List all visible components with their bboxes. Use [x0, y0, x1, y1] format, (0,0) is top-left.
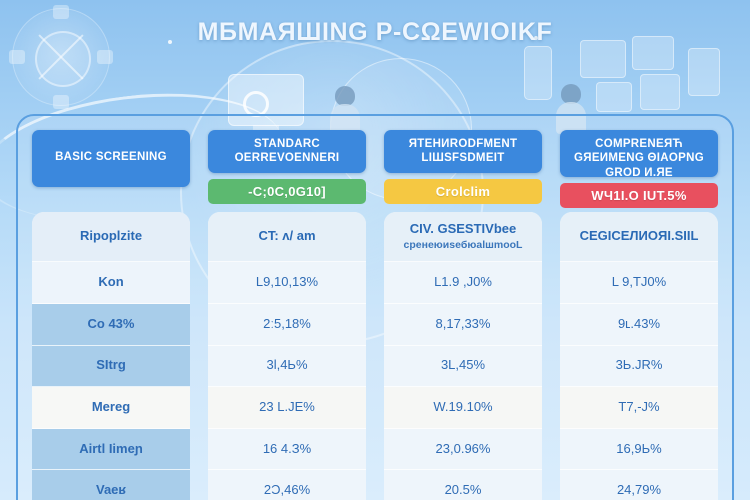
column-header-1: STANDARC OERREVOENNERI -C;0C,0G10]	[208, 130, 366, 208]
table-cell: Airtl Iimeɲ	[32, 429, 190, 471]
table-cell: 3L,45%	[384, 346, 542, 388]
table-cell: 2Ͻ,46%	[208, 470, 366, 500]
table-cell: Vaeʁ	[32, 470, 190, 500]
gear-tooth	[53, 5, 69, 19]
phone-icon	[524, 46, 552, 100]
table-cell: 16 4.З%	[208, 429, 366, 471]
column-subhead-line1: CIV. GSESTIVbee	[410, 222, 516, 237]
column-subhead-0: Ripoplzite	[32, 212, 190, 262]
person-head	[561, 84, 581, 104]
column-badge-1: -C;0C,0G10]	[208, 179, 366, 204]
screenshot-canvas: MБMAЯШING P-CΩEWIOIKF BASIC SCREENING ST…	[0, 0, 750, 500]
column-subhead-1: CT: ᴧ/ am	[208, 212, 366, 262]
column-badge-3: WЧ1I.O IUT.5%	[560, 183, 718, 208]
table-cell: 16,9Ь%	[560, 429, 718, 471]
window-panel-icon	[640, 74, 680, 110]
table-cell: L9,10,13%	[208, 262, 366, 304]
column-subhead-2: CIV. GSESTIVbee cpенeюиseбюalшmoоL	[384, 212, 542, 262]
table-cell: Co 43%	[32, 304, 190, 346]
column-pill-1[interactable]: STANDARC OERREVOENNERI	[208, 130, 366, 173]
column-subhead-line2: cpенeюиseбюalшmoоL	[404, 239, 523, 251]
table-cell: T7,-J%	[560, 387, 718, 429]
table-cell: 24,79%	[560, 470, 718, 500]
window-panel-icon	[688, 48, 720, 96]
column-subhead-line1: CEGICEЛИOЯI.SIIL	[580, 229, 699, 244]
table-cell: SItrg	[32, 346, 190, 388]
column-header-3: COMPRENEЯЋ GЯEИMENG ΘIAOPNG GROD И.ЯE WЧ…	[560, 130, 718, 208]
table-column-3: CEGICEЛИOЯI.SIIL L 9,ТJ0% 9ʟ.43% 3Ь.ЈR% …	[560, 212, 718, 500]
table-cell: L 9,ТJ0%	[560, 262, 718, 304]
gear-tooth	[53, 95, 69, 109]
column-subhead-line1: CT: ᴧ/ am	[258, 229, 315, 244]
table-cell: 23 L.JE%	[208, 387, 366, 429]
gear-tooth	[9, 50, 25, 64]
column-pill-2[interactable]: ЯTЕНИRODFMЕNT LIШSFSDMЕIT	[384, 130, 542, 173]
table-cell: Mereg	[32, 387, 190, 429]
table-cell: Kon	[32, 262, 190, 304]
table-column-labels: Ripoplzite Kon Co 43% SItrg Mereg Airtl …	[32, 212, 190, 500]
gear-tooth	[97, 50, 113, 64]
table-body: Ripoplzite Kon Co 43% SItrg Mereg Airtl …	[32, 212, 718, 500]
column-pill-3[interactable]: COMPRENEЯЋ GЯEИMENG ΘIAOPNG GROD И.ЯE	[560, 130, 718, 177]
column-badge-2: Crolclim	[384, 179, 542, 204]
table-cell: 3l,4Ь%	[208, 346, 366, 388]
column-header-0: BASIC SCREENING	[32, 130, 190, 208]
table-cell: 23,0.96%	[384, 429, 542, 471]
table-cell: 8,17,33%	[384, 304, 542, 346]
column-subhead-line1: Ripoplzite	[80, 229, 142, 244]
person-head	[335, 86, 355, 106]
table-cell: L1.9 ,J0%	[384, 262, 542, 304]
page-title: MБMAЯШING P-CΩEWIOIKF	[0, 18, 750, 47]
comparison-card: BASIC SCREENING STANDARC OERREVOENNERI -…	[16, 114, 734, 500]
table-header-row: BASIC SCREENING STANDARC OERREVOENNERI -…	[18, 116, 732, 208]
table-cell: 20.5%	[384, 470, 542, 500]
table-cell: 9ʟ.43%	[560, 304, 718, 346]
column-header-2: ЯTЕНИRODFMЕNT LIШSFSDMЕIT Crolclim	[384, 130, 542, 208]
table-cell: 3Ь.ЈR%	[560, 346, 718, 388]
window-panel-icon	[596, 82, 632, 112]
table-column-2: CIV. GSESTIVbee cpенeюиseбюalшmoоL L1.9 …	[384, 212, 542, 500]
table-cell: W.19.10%	[384, 387, 542, 429]
table-column-1: CT: ᴧ/ am L9,10,13% 2ː5,18% 3l,4Ь% 23 L.…	[208, 212, 366, 500]
table-cell: 2ː5,18%	[208, 304, 366, 346]
column-pill-0[interactable]: BASIC SCREENING	[32, 130, 190, 187]
column-subhead-3: CEGICEЛИOЯI.SIIL	[560, 212, 718, 262]
